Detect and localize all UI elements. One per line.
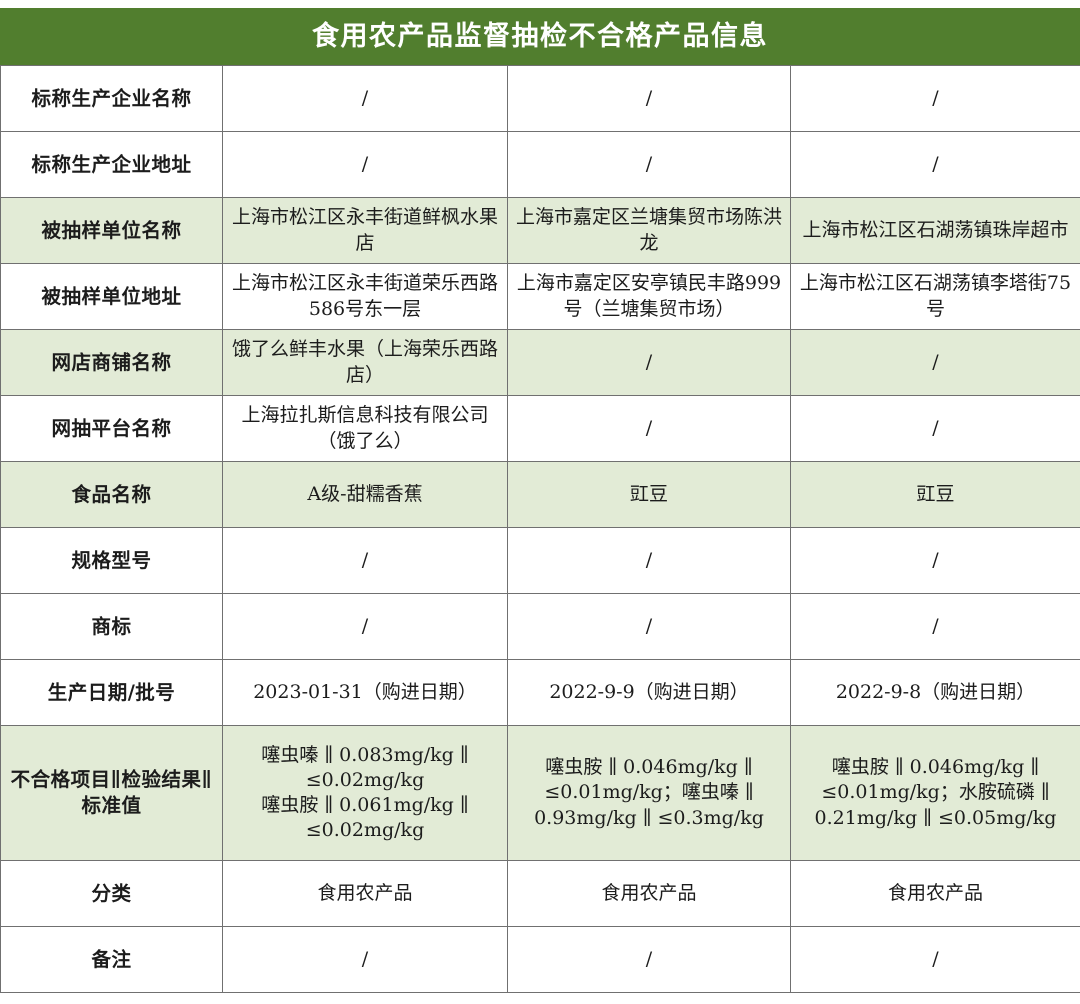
row-label: 食品名称 xyxy=(1,462,223,528)
row-value-sample2: / xyxy=(508,927,791,993)
row-label: 商标 xyxy=(1,594,223,660)
table-row: 网店商铺名称 饿了么鲜丰水果（上海荣乐西路店） / / xyxy=(1,330,1080,396)
row-value-sample3: 上海市松江区石湖荡镇珠岸超市 xyxy=(791,198,1080,264)
row-label: 生产日期/批号 xyxy=(1,660,223,726)
row-label: 被抽样单位地址 xyxy=(1,264,223,330)
row-value-sample1: 2023-01-31（购进日期） xyxy=(223,660,508,726)
row-value-sample3: 食用农产品 xyxy=(791,861,1080,927)
row-value-sample2: 食用农产品 xyxy=(508,861,791,927)
table-row: 生产日期/批号 2023-01-31（购进日期） 2022-9-9（购进日期） … xyxy=(1,660,1080,726)
result-line: 噻虫嗪 ∥ 0.083mg/kg ∥ ≤0.02mg/kg xyxy=(231,743,499,793)
row-value-sample1: 上海市松江区永丰街道荣乐西路586号东一层 xyxy=(223,264,508,330)
row-value-sample1: / xyxy=(223,66,508,132)
row-value-sample1: 饿了么鲜丰水果（上海荣乐西路店） xyxy=(223,330,508,396)
row-value-sample3: / xyxy=(791,330,1080,396)
table-row: 被抽样单位名称 上海市松江区永丰街道鲜枫水果店 上海市嘉定区兰塘集贸市场陈洪龙 … xyxy=(1,198,1080,264)
row-value-sample2: 上海市嘉定区兰塘集贸市场陈洪龙 xyxy=(508,198,791,264)
page-title: 食用农产品监督抽检不合格产品信息 xyxy=(312,23,768,50)
result-line: 噻虫胺 ∥ 0.061mg/kg ∥ ≤0.02mg/kg xyxy=(231,793,499,843)
report-page: 食用农产品监督抽检不合格产品信息 标称生产企业名称 / / / 标称生产企业地址… xyxy=(0,0,1080,1004)
row-value-sample2: 2022-9-9（购进日期） xyxy=(508,660,791,726)
row-value-sample3: 噻虫胺 ∥ 0.046mg/kg ∥ ≤0.01mg/kg；水胺硫磷 ∥ 0.2… xyxy=(791,726,1080,861)
row-value-sample3: / xyxy=(791,132,1080,198)
row-value-sample1: A级-甜糯香蕉 xyxy=(223,462,508,528)
table-row: 分类 食用农产品 食用农产品 食用农产品 xyxy=(1,861,1080,927)
row-value-sample2: 上海市嘉定区安亭镇民丰路999号（兰塘集贸市场） xyxy=(508,264,791,330)
row-value-sample1: / xyxy=(223,594,508,660)
row-label: 不合格项目∥检验结果∥标准值 xyxy=(1,726,223,861)
table-row-test-results: 不合格项目∥检验结果∥标准值 噻虫嗪 ∥ 0.083mg/kg ∥ ≤0.02m… xyxy=(1,726,1080,861)
row-value-sample2: / xyxy=(508,396,791,462)
table-row: 标称生产企业地址 / / / xyxy=(1,132,1080,198)
row-value-sample1: / xyxy=(223,528,508,594)
row-value-sample2: / xyxy=(508,594,791,660)
row-value-sample2: / xyxy=(508,330,791,396)
row-value-sample1: / xyxy=(223,132,508,198)
row-value-sample1: 上海拉扎斯信息科技有限公司（饿了么） xyxy=(223,396,508,462)
row-value-sample3: 2022-9-8（购进日期） xyxy=(791,660,1080,726)
table-row: 食品名称 A级-甜糯香蕉 豇豆 豇豆 xyxy=(1,462,1080,528)
row-value-sample2: 豇豆 xyxy=(508,462,791,528)
row-label: 标称生产企业名称 xyxy=(1,66,223,132)
row-label: 规格型号 xyxy=(1,528,223,594)
row-value-sample2: 噻虫胺 ∥ 0.046mg/kg ∥ ≤0.01mg/kg；噻虫嗪 ∥ 0.93… xyxy=(508,726,791,861)
table-row: 规格型号 / / / xyxy=(1,528,1080,594)
row-value-sample3: 豇豆 xyxy=(791,462,1080,528)
row-value-sample2: / xyxy=(508,132,791,198)
table-row: 标称生产企业名称 / / / xyxy=(1,66,1080,132)
row-value-sample2: / xyxy=(508,528,791,594)
row-label: 分类 xyxy=(1,861,223,927)
row-value-sample3: / xyxy=(791,594,1080,660)
row-label: 被抽样单位名称 xyxy=(1,198,223,264)
row-value-sample3: / xyxy=(791,528,1080,594)
row-value-sample1: 食用农产品 xyxy=(223,861,508,927)
report-title-banner: 食用农产品监督抽检不合格产品信息 xyxy=(0,8,1080,65)
row-value-sample2: / xyxy=(508,66,791,132)
inspection-result-table: 标称生产企业名称 / / / 标称生产企业地址 / / / 被抽样单位名称 上海… xyxy=(0,65,1080,993)
row-label: 网抽平台名称 xyxy=(1,396,223,462)
row-label: 标称生产企业地址 xyxy=(1,132,223,198)
table-row: 被抽样单位地址 上海市松江区永丰街道荣乐西路586号东一层 上海市嘉定区安亭镇民… xyxy=(1,264,1080,330)
row-value-sample3: / xyxy=(791,396,1080,462)
result-line: 噻虫胺 ∥ 0.046mg/kg ∥ ≤0.01mg/kg；噻虫嗪 ∥ 0.93… xyxy=(516,755,782,830)
row-value-sample1: 上海市松江区永丰街道鲜枫水果店 xyxy=(223,198,508,264)
row-value-sample3: 上海市松江区石湖荡镇李塔街75号 xyxy=(791,264,1080,330)
row-label: 网店商铺名称 xyxy=(1,330,223,396)
table-row: 网抽平台名称 上海拉扎斯信息科技有限公司（饿了么） / / xyxy=(1,396,1080,462)
row-value-sample1: 噻虫嗪 ∥ 0.083mg/kg ∥ ≤0.02mg/kg噻虫胺 ∥ 0.061… xyxy=(223,726,508,861)
row-value-sample1: / xyxy=(223,927,508,993)
result-line: 噻虫胺 ∥ 0.046mg/kg ∥ ≤0.01mg/kg；水胺硫磷 ∥ 0.2… xyxy=(799,755,1072,830)
row-value-sample3: / xyxy=(791,66,1080,132)
row-label: 备注 xyxy=(1,927,223,993)
table-row: 备注 / / / xyxy=(1,927,1080,993)
row-value-sample3: / xyxy=(791,927,1080,993)
table-row: 商标 / / / xyxy=(1,594,1080,660)
